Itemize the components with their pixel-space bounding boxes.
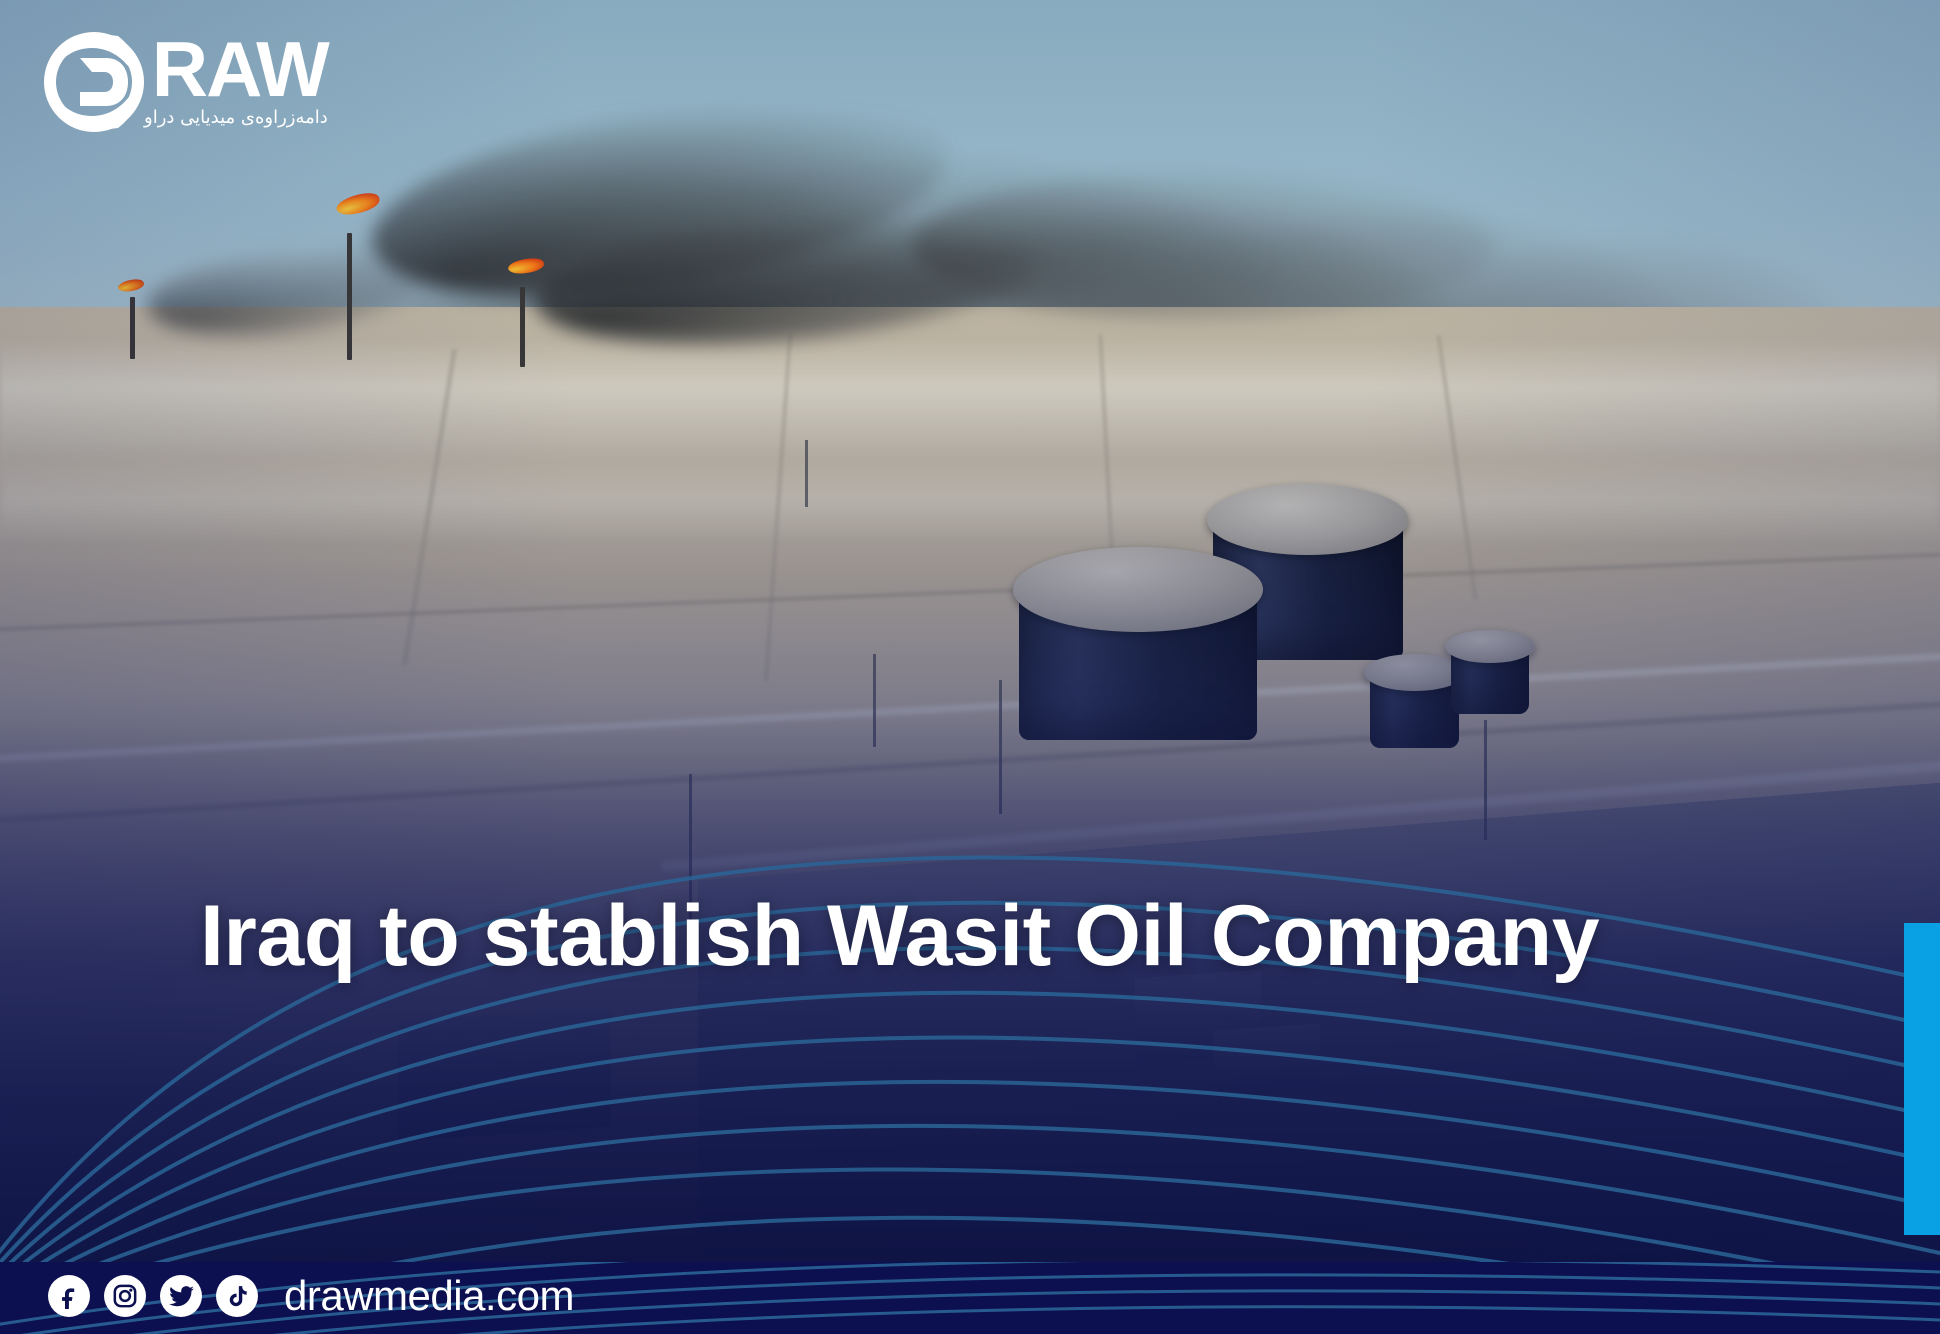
brand-wordmark: RAW دامەزراوەی میدیایی دراو <box>144 36 328 128</box>
website-url[interactable]: drawmedia.com <box>284 1272 574 1320</box>
navy-side-vignette <box>0 0 1940 1334</box>
page-title: Iraq to stablish Wasit Oil Company <box>200 891 1840 982</box>
logo-word: RAW <box>152 36 328 103</box>
accent-bar <box>1904 923 1940 1235</box>
brand-logo[interactable]: RAW دامەزراوەی میدیایی دراو <box>40 28 328 136</box>
logo-subtitle: دامەزراوەی میدیایی دراو <box>144 107 328 128</box>
tiktok-icon[interactable] <box>216 1275 258 1317</box>
facebook-icon[interactable] <box>48 1275 90 1317</box>
news-graphic-card: RAW دامەزراوەی میدیایی دراو Iraq to stab… <box>0 0 1940 1334</box>
twitter-icon[interactable] <box>160 1275 202 1317</box>
instagram-icon[interactable] <box>104 1275 146 1317</box>
footer-content: drawmedia.com <box>48 1272 574 1320</box>
d-circle-logo-icon <box>40 28 148 136</box>
